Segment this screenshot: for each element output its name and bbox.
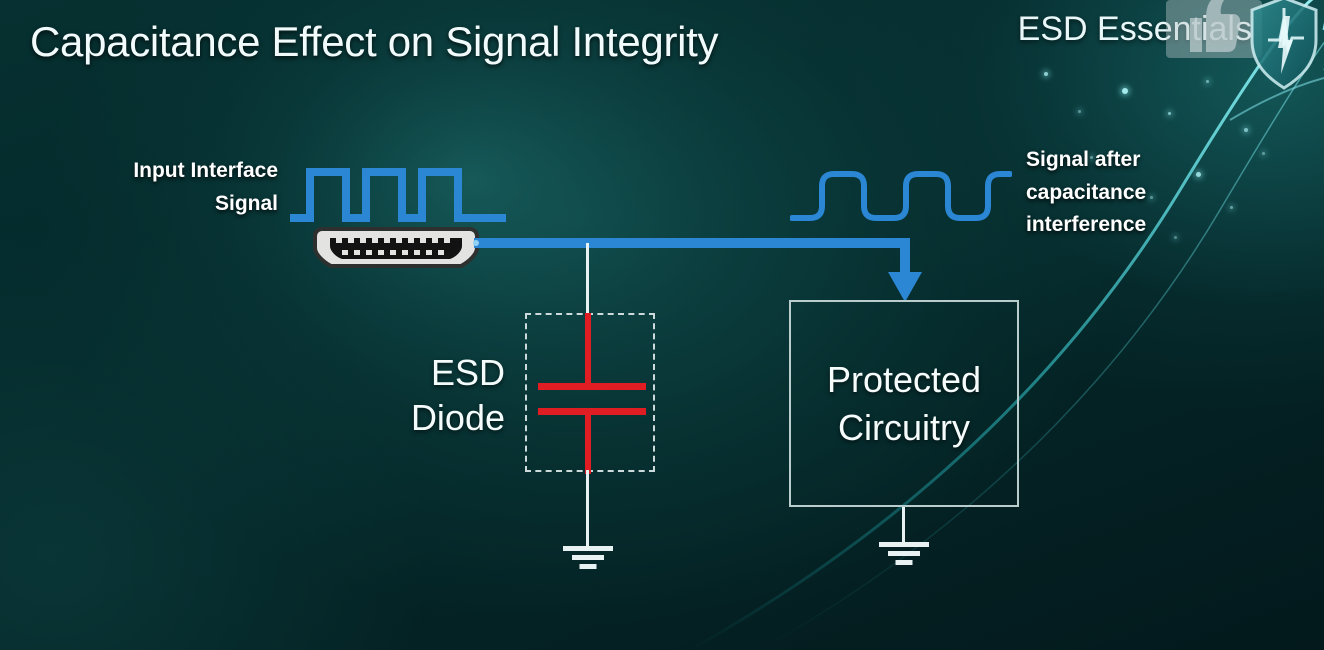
esd-shield-logo-icon [1248, 0, 1320, 92]
ground-symbol-left [563, 546, 613, 574]
esd-diode-label-line1: ESD [360, 350, 505, 395]
background-light-streak [0, 0, 1324, 650]
page-title: Capacitance Effect on Signal Integrity [30, 18, 718, 66]
capacitor-ground-wire [586, 470, 589, 549]
slide-canvas: Capacitance Effect on Signal Integrity E… [0, 0, 1324, 650]
hdmi-connector-icon [310, 226, 482, 272]
output-signal-label-line1: Signal after [1026, 144, 1266, 177]
input-signal-label-line1: Input Interface [34, 155, 278, 188]
capacitor-bottom-plate [538, 408, 646, 415]
capacitor-top-plate [538, 383, 646, 390]
output-signal-label-line2: capacitance [1026, 177, 1266, 210]
protected-circuitry-label-line1: Protected [827, 356, 981, 404]
output-signal-label-line3: interference [1026, 209, 1266, 242]
input-signal-label-line2: Signal [34, 188, 278, 221]
esd-diode-label-line2: Diode [360, 395, 505, 440]
blue-signal-trace [470, 228, 930, 308]
capacitor-bottom-lead [585, 412, 591, 474]
ground-symbol-right [879, 542, 929, 570]
capacitor-top-lead [585, 313, 591, 386]
protected-circuitry-box: Protected Circuitry [789, 300, 1019, 507]
input-signal-label: Input Interface Signal [34, 155, 278, 220]
protected-ground-wire [902, 507, 905, 543]
protected-circuitry-label: Protected Circuitry [827, 356, 981, 452]
protected-circuitry-label-line2: Circuitry [827, 404, 981, 452]
output-degraded-waveform [790, 168, 1012, 228]
esd-diode-label: ESD Diode [360, 350, 505, 440]
capacitor-branch-wire [586, 243, 589, 315]
output-signal-label: Signal after capacitance interference [1026, 144, 1266, 242]
input-square-waveform [288, 166, 510, 228]
background-sparkles [0, 0, 1324, 650]
